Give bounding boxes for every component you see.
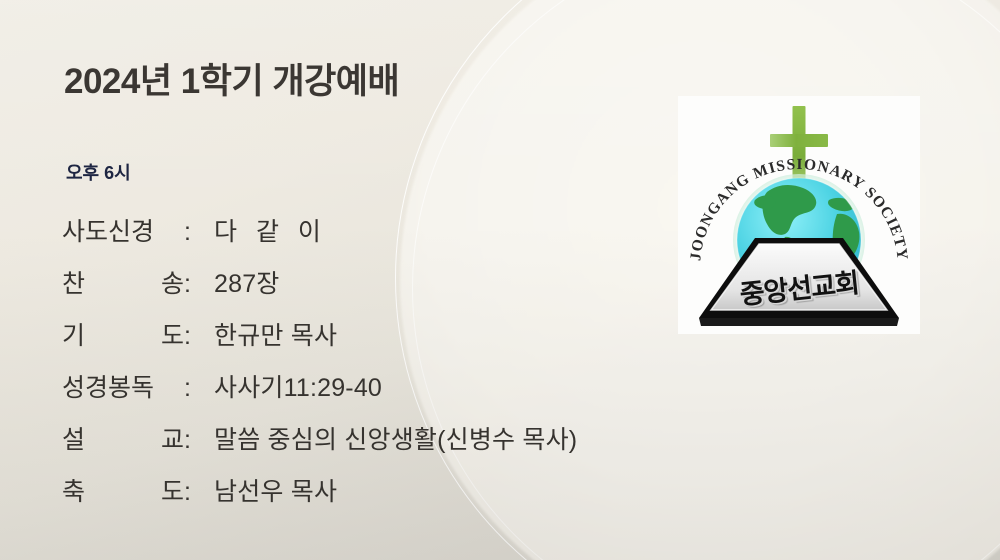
order-colon: : — [184, 374, 214, 403]
order-label-text: 성경봉독 — [62, 368, 154, 404]
order-label-text-2: 교 — [161, 420, 184, 456]
order-value: 287장 — [214, 264, 280, 300]
order-colon: : — [184, 478, 214, 507]
order-label: 성경봉독 — [62, 368, 184, 404]
order-label: 설 교 — [62, 420, 184, 456]
order-label-text: 설 — [62, 420, 85, 456]
order-value: 사사기11:29-40 — [214, 368, 382, 404]
page-title: 2024년 1학기 개강예배 — [64, 53, 399, 104]
order-label-text-2: 도 — [161, 316, 184, 352]
order-colon: : — [184, 322, 214, 351]
order-row: 축 도 : 남선우 목사 — [62, 472, 962, 524]
service-time: 오후 6시 — [66, 159, 131, 185]
order-label: 축 도 — [62, 472, 184, 508]
order-value: 한규만 목사 — [214, 316, 337, 352]
presentation-slide: 2024년 1학기 개강예배 오후 6시 사도신경 : 다 같 이 찬 송 : … — [0, 0, 1000, 560]
order-label-text-2: 도 — [161, 472, 184, 508]
order-label: 찬 송 — [62, 264, 184, 300]
order-colon: : — [184, 218, 214, 247]
order-label-text: 축 — [62, 472, 85, 508]
order-value: 말씀 중심의 신앙생활(신병수 목사) — [214, 420, 577, 456]
order-row: 성경봉독 : 사사기11:29-40 — [62, 368, 962, 420]
order-label: 기 도 — [62, 316, 184, 352]
church-logo: JOONGANG MISSIONARY SOCIETY — [678, 96, 920, 334]
order-label-text-2: 송 — [161, 264, 184, 300]
order-colon: : — [184, 426, 214, 455]
order-label: 사도신경 — [62, 212, 184, 248]
order-label-text: 기 — [62, 316, 85, 352]
slide-content: 2024년 1학기 개강예배 오후 6시 사도신경 : 다 같 이 찬 송 : … — [0, 0, 560, 560]
order-value: 남선우 목사 — [214, 472, 337, 508]
order-label-text: 사도신경 — [62, 212, 154, 248]
order-value: 다 같 이 — [214, 212, 327, 248]
order-row: 설 교 : 말씀 중심의 신앙생활(신병수 목사) — [62, 420, 962, 472]
order-colon: : — [184, 270, 214, 299]
order-label-text: 찬 — [62, 264, 85, 300]
